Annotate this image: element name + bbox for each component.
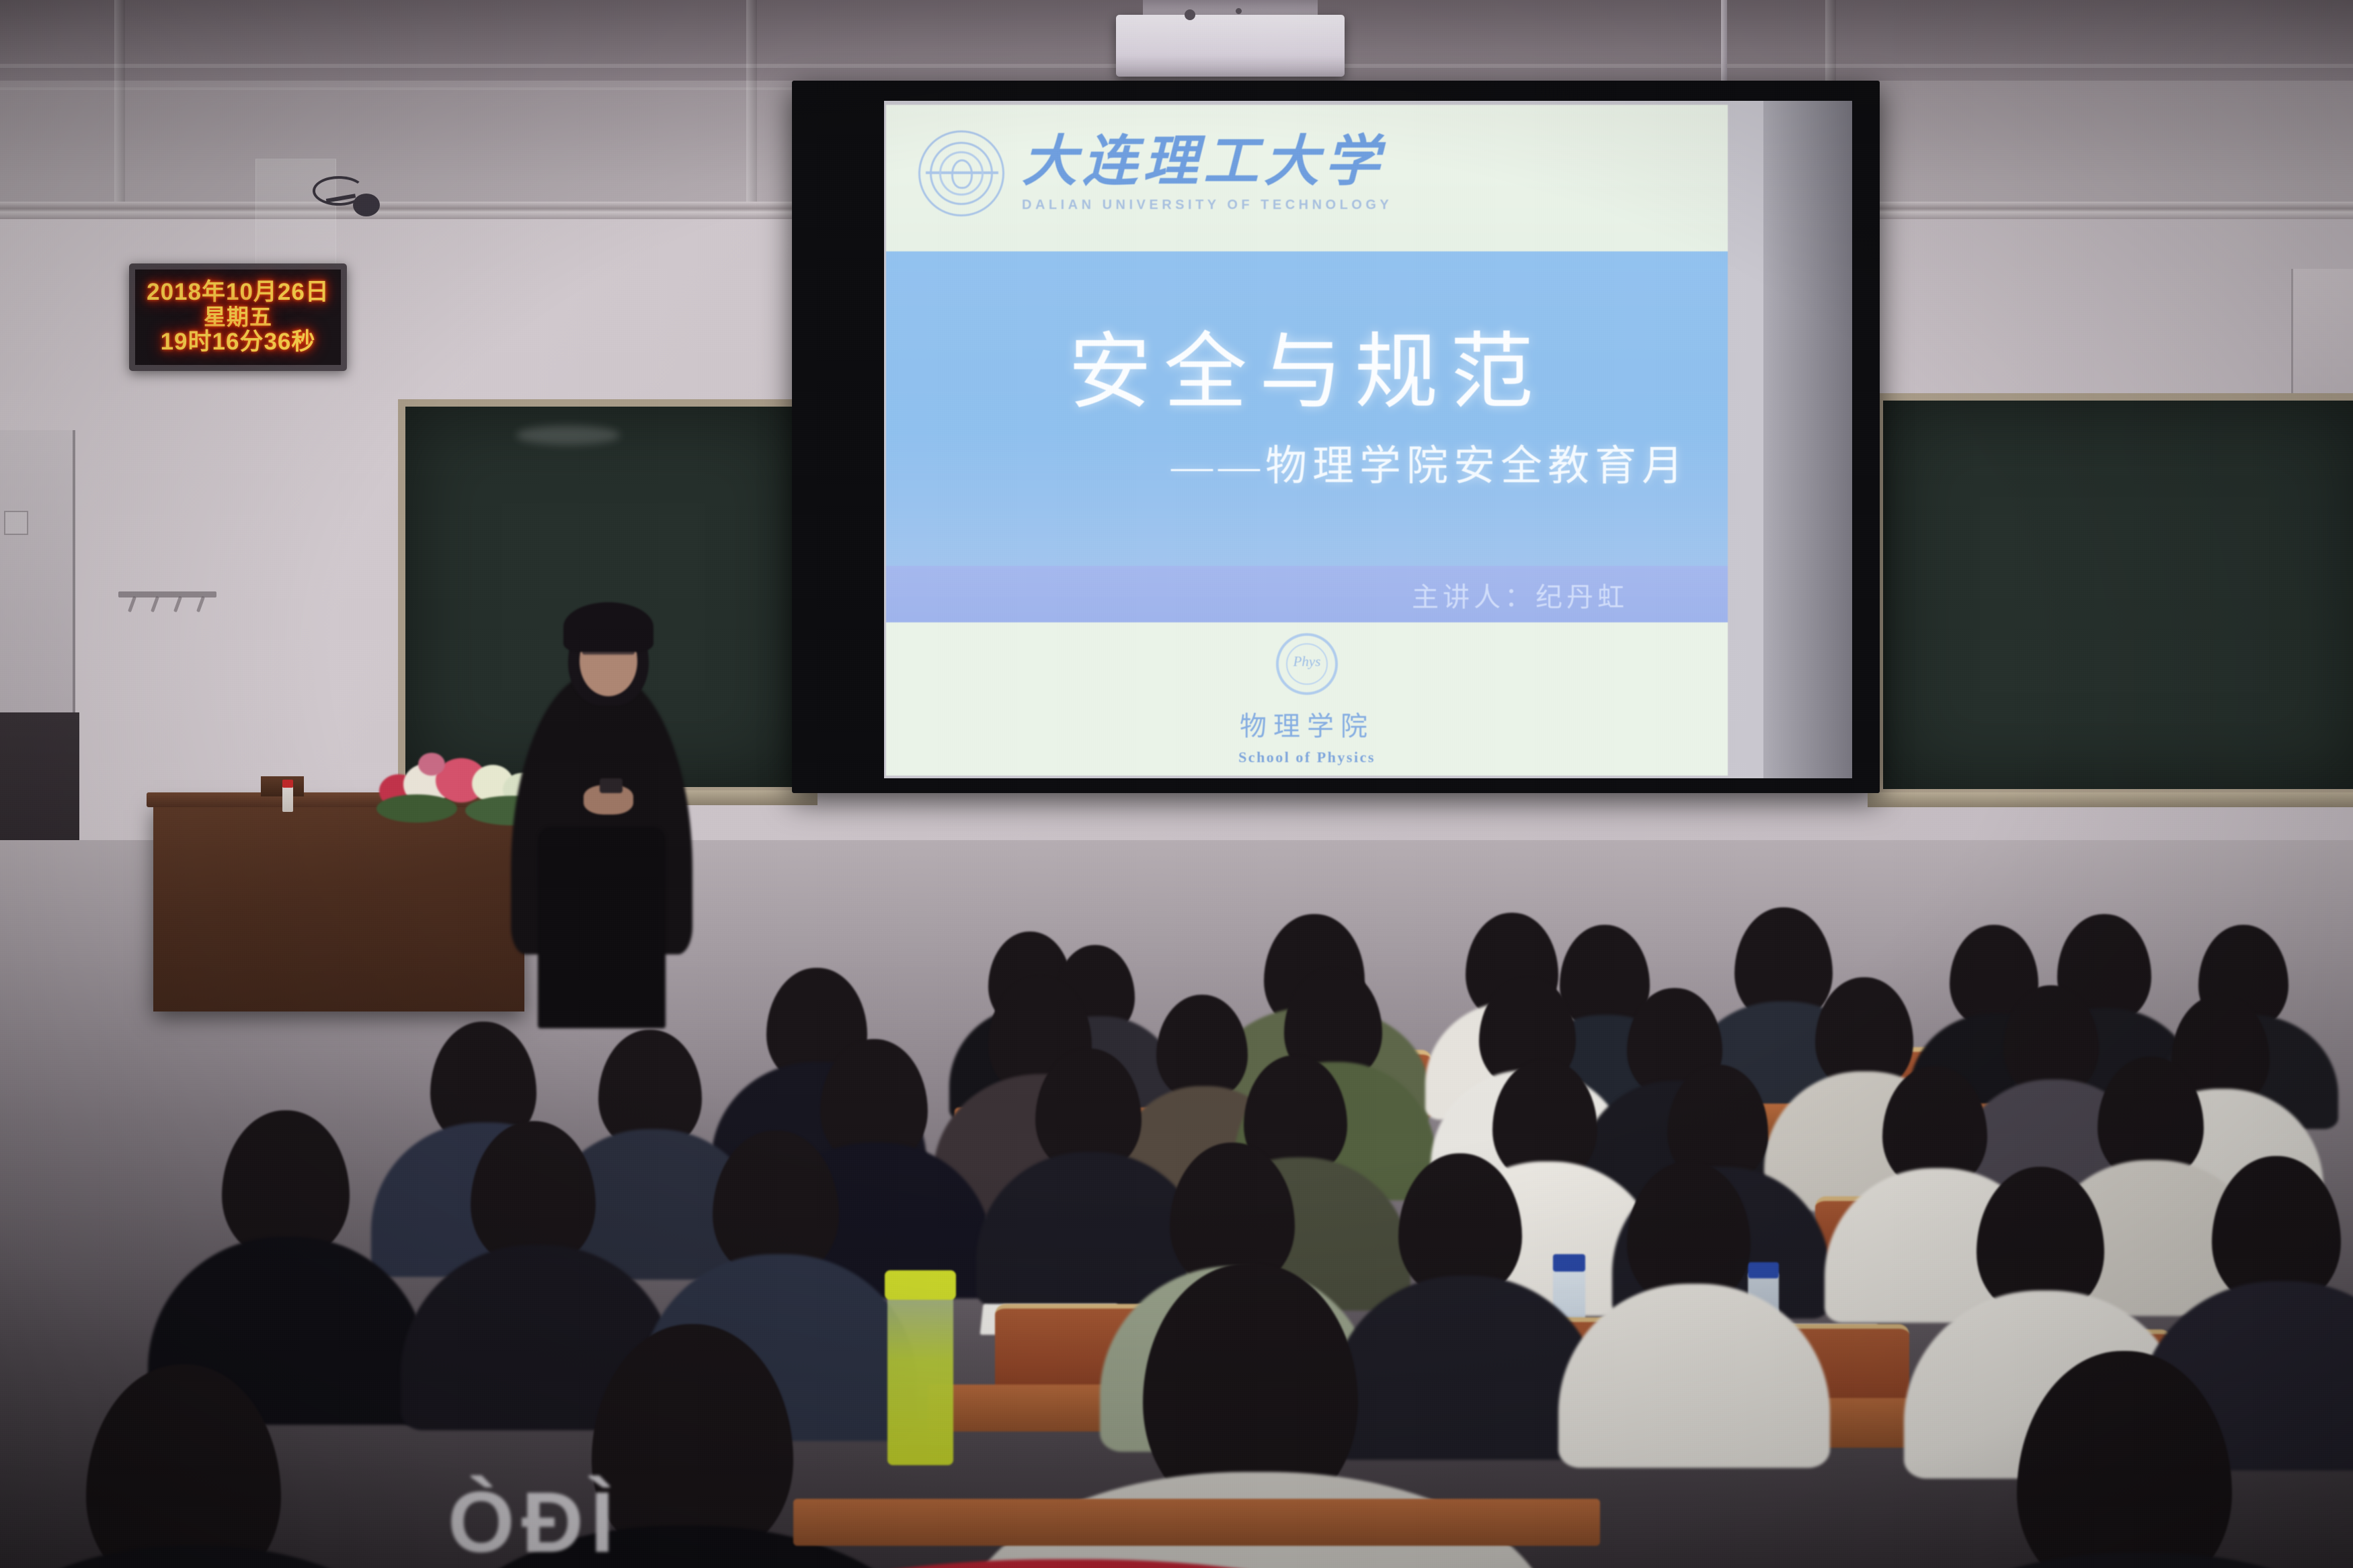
- crest-core: [951, 159, 973, 189]
- presenter-hair: [563, 602, 653, 652]
- wall-panel-left: [0, 430, 75, 753]
- screen-support-rod: [1721, 0, 1727, 81]
- led-clock-display: 2018年10月26日 星期五 19时16分36秒: [129, 263, 347, 371]
- coat-hook: [196, 596, 205, 612]
- ceiling-pillar-mid: [746, 0, 757, 222]
- jacket-lettering: ÒÐÌ: [448, 1473, 621, 1568]
- foreground-desk: [793, 1499, 1600, 1546]
- coat-hook-rail: [118, 591, 216, 614]
- slide-presenter-name: 主讲人：纪丹虹: [1412, 575, 1628, 614]
- seal-text: Phys: [1279, 653, 1335, 670]
- led-clock-weekday: 星期五: [204, 306, 272, 329]
- department-seal-icon: Phys: [1276, 633, 1338, 695]
- screen-shadow-edge: [1763, 101, 1852, 778]
- flower-petal: [418, 753, 445, 776]
- slide-date: 2018/10/26: [886, 774, 1728, 776]
- university-branding: 大连理工大学 DALIAN UNIVERSITY OF TECHNOLOGY: [918, 130, 1392, 216]
- lectern-bottle-cap: [282, 780, 293, 788]
- audience-head: [1156, 995, 1248, 1100]
- department-name-en: School of Physics: [886, 749, 1728, 766]
- slide-footer: Phys 物理学院 School of Physics 2018/10/26: [886, 622, 1728, 776]
- slide-presenter-band: 主讲人：纪丹虹: [886, 566, 1728, 622]
- blackboard-glare: [516, 425, 619, 444]
- yellow-green-sports-bottle: [887, 1284, 953, 1465]
- university-name-cn: 大连理工大学: [1022, 134, 1392, 190]
- coat-hook: [173, 596, 182, 612]
- projected-slide: 大连理工大学 DALIAN UNIVERSITY OF TECHNOLOGY 安…: [886, 105, 1728, 776]
- audience-shoulders-foreground: [1876, 1553, 2353, 1568]
- camera-lens: [353, 194, 380, 216]
- blue-bottle-cap: [1553, 1254, 1585, 1272]
- blue-bottle-cap: [1748, 1262, 1779, 1278]
- crest-bar: [926, 171, 998, 174]
- projector-screw: [1236, 8, 1242, 14]
- wall-panel-right: [2291, 269, 2353, 397]
- audience-head: [222, 1110, 350, 1258]
- ceiling-pillar-left: [114, 0, 125, 222]
- university-crest-icon: [918, 130, 1004, 216]
- university-name-en: DALIAN UNIVERSITY OF TECHNOLOGY: [1022, 198, 1392, 213]
- slide-title-band: 安全与规范 ——物理学院安全教育月: [886, 251, 1728, 574]
- slide-header: 大连理工大学 DALIAN UNIVERSITY OF TECHNOLOGY: [886, 105, 1728, 251]
- light-switch-plate[interactable]: [4, 511, 28, 535]
- led-clock-date: 2018年10月26日: [147, 280, 329, 304]
- coat-hook: [128, 596, 136, 612]
- sports-bottle-cap: [885, 1270, 956, 1300]
- coat-hook: [151, 596, 159, 612]
- slide-title: 安全与规范: [886, 304, 1728, 425]
- audience-shoulders-foreground: [0, 1546, 430, 1568]
- audience-area: [0, 793, 2353, 1568]
- department-name-cn: 物理学院: [886, 704, 1728, 743]
- projector: [1116, 15, 1345, 77]
- slide-subtitle: ——物理学院安全教育月: [1171, 431, 1689, 492]
- projector-knob: [1185, 9, 1195, 20]
- presentation-clicker[interactable]: [600, 778, 623, 793]
- wall-camera-icon: [306, 168, 387, 226]
- ceiling-pillar-right: [1825, 0, 1836, 81]
- led-clock-time: 19时16分36秒: [161, 330, 316, 354]
- blackboard-right: [1876, 393, 2353, 796]
- lecture-hall-photo: 大连理工大学 DALIAN UNIVERSITY OF TECHNOLOGY 安…: [0, 0, 2353, 1568]
